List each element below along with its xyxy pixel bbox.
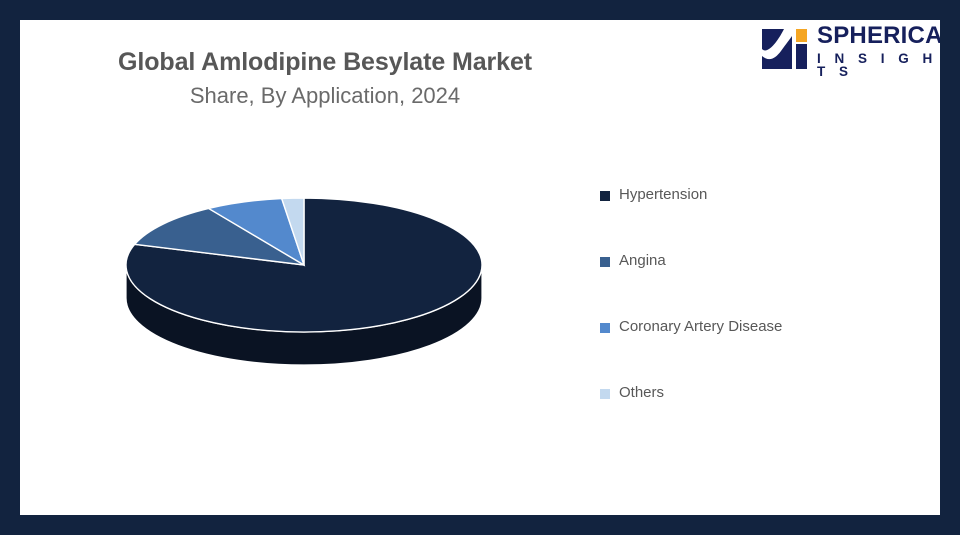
legend-label: Angina [619,251,666,271]
logo-wordmark: SPHERICAL I N S I G H T S [817,24,940,79]
legend-item[interactable]: Angina [600,251,900,317]
logo-word-sub: I N S I G H T S [817,52,940,79]
legend-item[interactable]: Coronary Artery Disease [600,317,900,383]
chart-frame: Global Amlodipine Besylate Market Share,… [0,0,960,535]
legend-label: Coronary Artery Disease [619,317,782,337]
pie-chart [80,160,510,420]
legend-swatch-angina [600,257,610,267]
chart-legend: Hypertension Angina Coronary Artery Dise… [600,185,900,449]
legend-item[interactable]: Hypertension [600,185,900,251]
page-title: Global Amlodipine Besylate Market [90,48,560,78]
spherical-insights-mark-icon [762,29,808,74]
brand-logo: SPHERICAL I N S I G H T S [762,20,940,82]
legend-swatch-others [600,389,610,399]
legend-label: Others [619,383,664,403]
page-subtitle: Share, By Application, 2024 [90,82,560,110]
legend-label: Hypertension [619,185,707,205]
title-block: Global Amlodipine Besylate Market Share,… [90,48,560,109]
legend-swatch-hypertension [600,191,610,201]
logo-word-main: SPHERICAL [817,24,940,48]
legend-item[interactable]: Others [600,383,900,449]
chart-canvas: Global Amlodipine Besylate Market Share,… [20,20,940,515]
legend-swatch-coronary-artery-disease [600,323,610,333]
